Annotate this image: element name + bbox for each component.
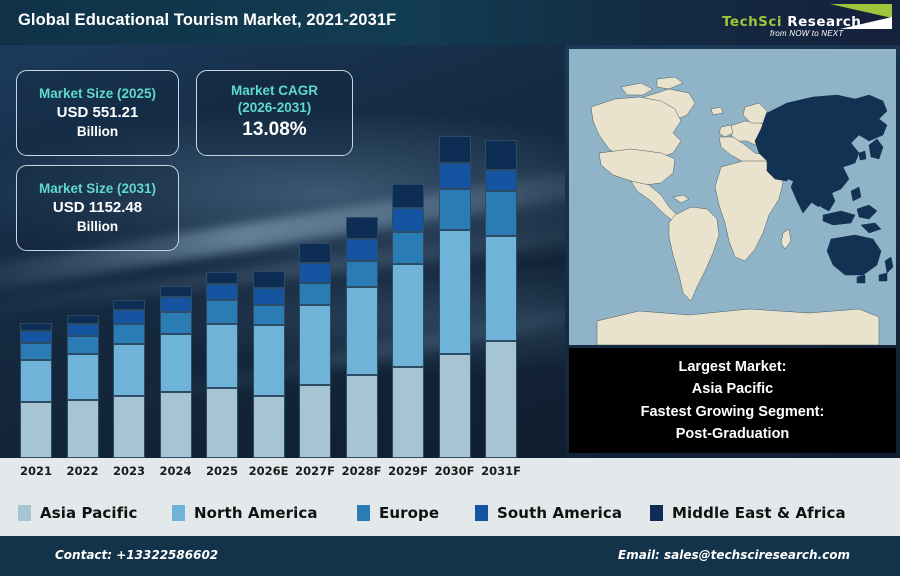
- bar-segment-north-america: [113, 344, 145, 396]
- legend-label: Europe: [379, 504, 439, 522]
- bar-segment-south-america: [160, 297, 192, 312]
- legend-item-middle-east-africa[interactable]: Middle East & Africa: [650, 504, 846, 522]
- chart-legend: Asia PacificNorth AmericaEuropeSouth Ame…: [0, 490, 900, 536]
- bar-segment-south-america: [20, 331, 52, 343]
- logo-tagline: from NOW to NEXT: [770, 29, 843, 38]
- bar-segment-south-america: [113, 310, 145, 324]
- chart-x-axis: 202120222023202420252026E2027F2028F2029F…: [0, 458, 565, 490]
- bar-segment-europe: [485, 191, 517, 236]
- bar-segment-middle-east-africa: [485, 140, 517, 170]
- bar-segment-south-america: [392, 208, 424, 232]
- bar-segment-middle-east-africa: [439, 136, 471, 163]
- bar-2031F: [485, 140, 517, 458]
- bar-segment-asia-pacific: [485, 341, 517, 458]
- bar-2025: [206, 272, 238, 458]
- bar-segment-middle-east-africa: [206, 272, 238, 284]
- bar-2026E: [253, 271, 285, 458]
- bar-segment-asia-pacific: [67, 400, 99, 458]
- legend-label: South America: [497, 504, 622, 522]
- kpi-card-market-cagr: Market CAGR (2026-2031) 13.08%: [196, 70, 353, 156]
- kpi-label: Market Size (2031): [17, 181, 178, 198]
- bar-segment-asia-pacific: [160, 392, 192, 458]
- kpi-value: USD 1152.48: [17, 198, 178, 218]
- bar-segment-middle-east-africa: [253, 271, 285, 288]
- logo-text-white: Research: [787, 14, 861, 30]
- bar-segment-europe: [67, 336, 99, 354]
- legend-label: North America: [194, 504, 318, 522]
- techsci-research-logo: TechSci Research from NOW to NEXT: [714, 2, 894, 44]
- bar-2027F: [299, 243, 331, 458]
- legend-label: Asia Pacific: [40, 504, 138, 522]
- footer-bar: Contact: +13322586602 Email: sales@techs…: [0, 536, 900, 576]
- bar-segment-europe: [299, 283, 331, 305]
- legend-item-south-america[interactable]: South America: [475, 504, 622, 522]
- bar-segment-middle-east-africa: [299, 243, 331, 263]
- legend-item-asia-pacific[interactable]: Asia Pacific: [18, 504, 138, 522]
- info-box: Largest Market: Asia Pacific Fastest Gro…: [569, 348, 896, 453]
- bar-segment-north-america: [485, 236, 517, 341]
- x-axis-label-2031F: 2031F: [471, 464, 531, 478]
- world-map: [569, 49, 896, 345]
- bar-segment-asia-pacific: [439, 354, 471, 458]
- bar-segment-europe: [439, 189, 471, 230]
- legend-swatch-icon: [357, 505, 370, 521]
- bar-segment-north-america: [439, 230, 471, 354]
- bar-segment-south-america: [346, 239, 378, 261]
- info-line-largest-market-value: Asia Pacific: [692, 378, 773, 400]
- bar-segment-middle-east-africa: [113, 300, 145, 310]
- bar-segment-asia-pacific: [253, 396, 285, 458]
- footer-email: Email: sales@techsciresearch.com: [618, 548, 850, 562]
- bar-segment-north-america: [346, 287, 378, 375]
- info-line-fastest-segment-label: Fastest Growing Segment:: [641, 401, 825, 423]
- bar-segment-north-america: [299, 305, 331, 385]
- bar-2023: [113, 300, 145, 458]
- legend-item-north-america[interactable]: North America: [172, 504, 318, 522]
- world-map-svg: [569, 49, 896, 345]
- bar-segment-north-america: [67, 354, 99, 400]
- bar-segment-asia-pacific: [346, 375, 378, 458]
- bar-segment-europe: [113, 324, 145, 344]
- kpi-label: Market Size (2025): [17, 86, 178, 103]
- logo-text-green: TechSci: [722, 14, 787, 30]
- kpi-label-line1: Market CAGR: [197, 83, 352, 100]
- bar-segment-asia-pacific: [299, 385, 331, 458]
- bar-segment-north-america: [253, 325, 285, 396]
- kpi-value: USD 551.21: [17, 103, 178, 123]
- bar-2028F: [346, 217, 378, 458]
- bar-segment-europe: [160, 312, 192, 334]
- bar-segment-asia-pacific: [113, 396, 145, 458]
- info-line-largest-market-label: Largest Market:: [679, 356, 787, 378]
- bar-2021: [20, 323, 52, 458]
- bar-segment-middle-east-africa: [20, 323, 52, 331]
- kpi-card-market-size-2025: Market Size (2025) USD 551.21 Billion: [16, 70, 179, 156]
- footer-contact: Contact: +13322586602: [55, 548, 218, 562]
- bar-segment-south-america: [253, 288, 285, 305]
- bar-segment-asia-pacific: [20, 402, 52, 458]
- bar-segment-middle-east-africa: [346, 217, 378, 239]
- kpi-value: 13.08%: [197, 117, 352, 143]
- bar-segment-middle-east-africa: [392, 184, 424, 208]
- bar-segment-north-america: [160, 334, 192, 392]
- kpi-unit: Billion: [17, 218, 178, 236]
- bar-segment-south-america: [299, 263, 331, 283]
- bar-segment-middle-east-africa: [67, 315, 99, 324]
- bar-2030F: [439, 136, 471, 458]
- kpi-unit: Billion: [17, 123, 178, 141]
- bar-2029F: [392, 184, 424, 458]
- bar-segment-north-america: [392, 264, 424, 367]
- infographic-root: Global Educational Tourism Market, 2021-…: [0, 0, 900, 576]
- bar-2024: [160, 286, 192, 458]
- bar-2022: [67, 315, 99, 458]
- bar-segment-south-america: [439, 163, 471, 189]
- header-bar: Global Educational Tourism Market, 2021-…: [0, 0, 900, 45]
- bar-segment-europe: [392, 232, 424, 264]
- bar-segment-north-america: [20, 360, 52, 402]
- bar-segment-middle-east-africa: [160, 286, 192, 297]
- bar-segment-europe: [20, 343, 52, 360]
- page-title: Global Educational Tourism Market, 2021-…: [18, 11, 396, 30]
- kpi-card-market-size-2031: Market Size (2031) USD 1152.48 Billion: [16, 165, 179, 251]
- bar-segment-europe: [206, 300, 238, 324]
- bar-segment-south-america: [206, 284, 238, 300]
- legend-item-europe[interactable]: Europe: [357, 504, 439, 522]
- info-line-fastest-segment-value: Post-Graduation: [676, 423, 790, 445]
- map-panel: Largest Market: Asia Pacific Fastest Gro…: [565, 45, 900, 458]
- bar-segment-europe: [253, 305, 285, 325]
- bar-segment-south-america: [67, 324, 99, 336]
- legend-swatch-icon: [475, 505, 488, 521]
- bar-segment-north-america: [206, 324, 238, 388]
- bar-segment-asia-pacific: [206, 388, 238, 458]
- legend-swatch-icon: [18, 505, 31, 521]
- bar-segment-europe: [346, 261, 378, 287]
- legend-swatch-icon: [650, 505, 663, 521]
- kpi-label-line2: (2026-2031): [197, 100, 352, 117]
- legend-label: Middle East & Africa: [672, 504, 846, 522]
- logo-wordmark: TechSci Research: [722, 14, 861, 30]
- bar-segment-asia-pacific: [392, 367, 424, 458]
- legend-swatch-icon: [172, 505, 185, 521]
- bar-segment-south-america: [485, 170, 517, 191]
